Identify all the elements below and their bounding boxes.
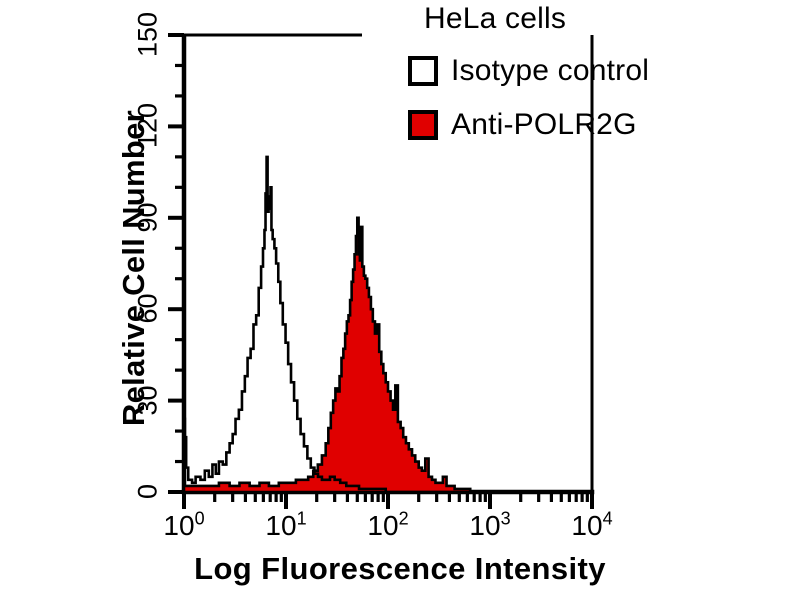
y-tick-label: 60 [135,279,162,339]
legend-swatch-anti-polr2g [408,110,438,140]
x-tick-label: 103 [450,512,530,540]
x-tick-exponent: 0 [195,509,205,529]
histogram-traces [184,157,592,492]
x-tick-mantissa: 10 [265,510,296,541]
x-axis-title: Log Fluorescence Intensity [0,553,800,584]
x-tick-mantissa: 10 [163,510,194,541]
y-tick-label: 150 [135,5,162,65]
legend-item-isotype-control: Isotype control [408,56,649,86]
x-tick-mantissa: 10 [469,510,500,541]
y-tick-label: 90 [135,187,162,247]
chart-title: HeLa cells [424,4,566,34]
x-tick-label: 101 [246,512,326,540]
x-tick-exponent: 1 [297,509,307,529]
legend-swatch-isotype-control [408,56,438,86]
y-tick-label: 30 [135,370,162,430]
flow-cytometry-figure: HeLa cells Isotype control Anti-POLR2G R… [0,0,800,600]
x-tick-exponent: 3 [501,509,511,529]
x-tick-exponent: 4 [603,509,613,529]
x-tick-exponent: 2 [399,509,409,529]
legend-item-anti-polr2g: Anti-POLR2G [408,110,637,140]
series-anti-polr2g [184,218,592,492]
x-tick-mantissa: 10 [571,510,602,541]
y-tick-label: 120 [135,96,162,156]
x-tick-label: 102 [348,512,428,540]
x-tick-mantissa: 10 [367,510,398,541]
legend-label-anti-polr2g: Anti-POLR2G [451,110,637,140]
x-tick-label: 100 [144,512,224,540]
legend-label-isotype-control: Isotype control [451,56,649,86]
x-tick-label: 104 [552,512,632,540]
y-axis-title: Relative Cell Number [118,8,164,528]
